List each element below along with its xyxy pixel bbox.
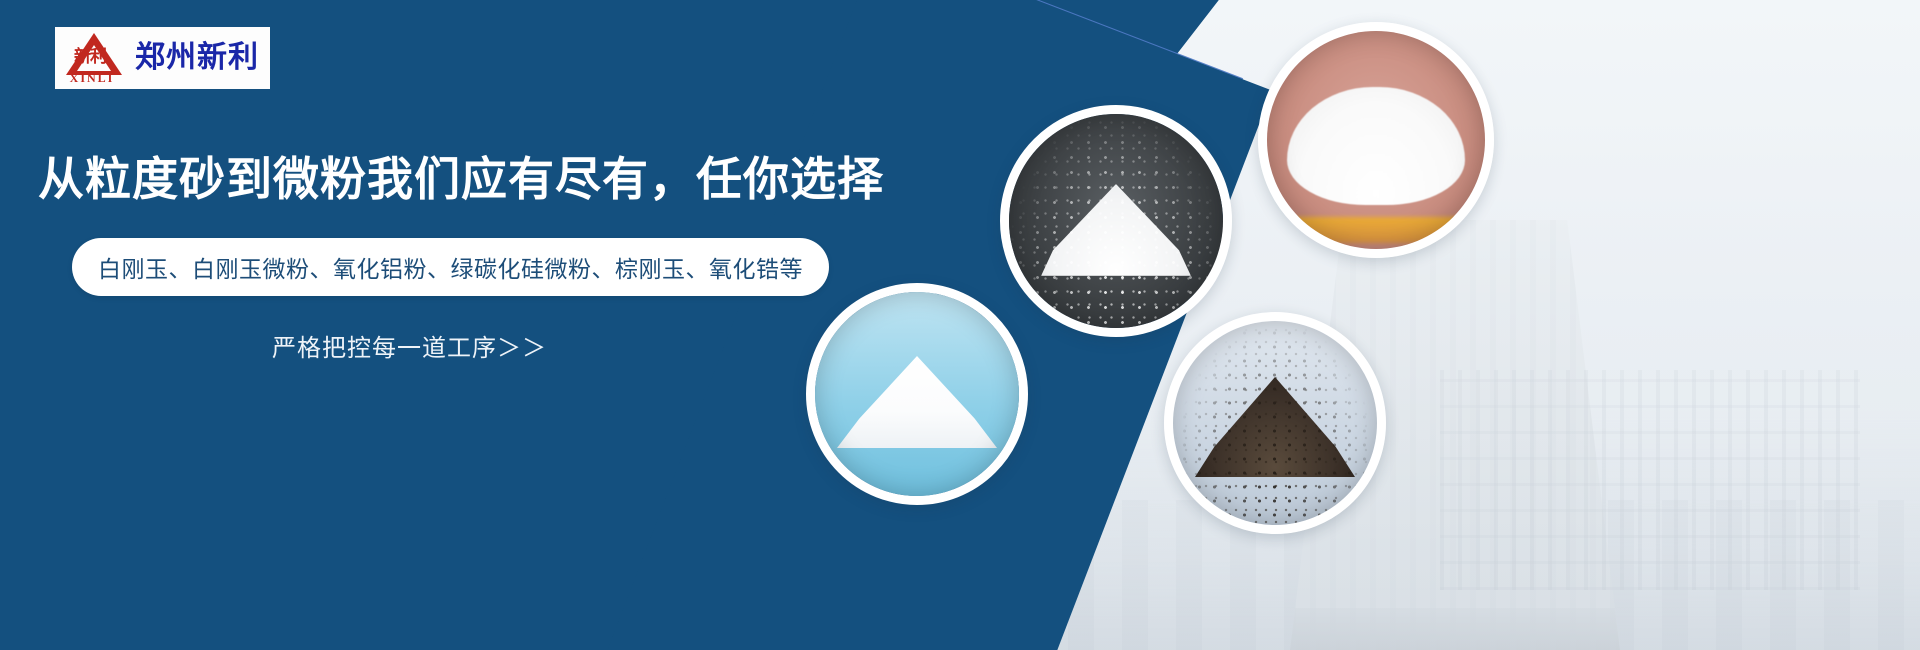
tray-vignette (1009, 114, 1223, 328)
triangle-logo-icon: 新利 XINLI (55, 27, 133, 89)
cta-arrows-icon: ＞＞ (497, 334, 547, 362)
tray-vignette (1267, 31, 1485, 249)
logo-mark-en: XINLI (57, 71, 127, 86)
product-circle-white-alumina-micropowder[interactable] (1258, 22, 1494, 258)
company-name: 郑州新利 (135, 27, 259, 89)
product-list-pill: 白刚玉、白刚玉微粉、氧化铝粉、绿碳化硅微粉、棕刚玉、氧化锆等 (72, 238, 829, 296)
logo-mark-cn: 新利 (59, 49, 121, 66)
promo-banner: 新利 XINLI 郑州新利 从粒度砂到微粉我们应有尽有，任你选择 白刚玉、白刚玉… (0, 0, 1920, 650)
cta-label: 严格把控每一道工序 (272, 334, 497, 362)
product-list-text: 白刚玉、白刚玉微粉、氧化铝粉、绿碳化硅微粉、棕刚玉、氧化锆等 (98, 250, 803, 284)
page-title: 从粒度砂到微粉我们应有尽有，任你选择 (38, 143, 884, 209)
cta-link[interactable]: 严格把控每一道工序＞＞ (272, 328, 547, 363)
product-circle-white-fused-alumina-grit[interactable] (1000, 105, 1232, 337)
product-circle-alumina-powder[interactable] (806, 283, 1028, 505)
tray-vignette (815, 292, 1019, 496)
product-circle-brown-fused-alumina[interactable] (1164, 312, 1386, 534)
tray-vignette (1173, 321, 1377, 525)
company-logo[interactable]: 新利 XINLI 郑州新利 (55, 27, 270, 89)
